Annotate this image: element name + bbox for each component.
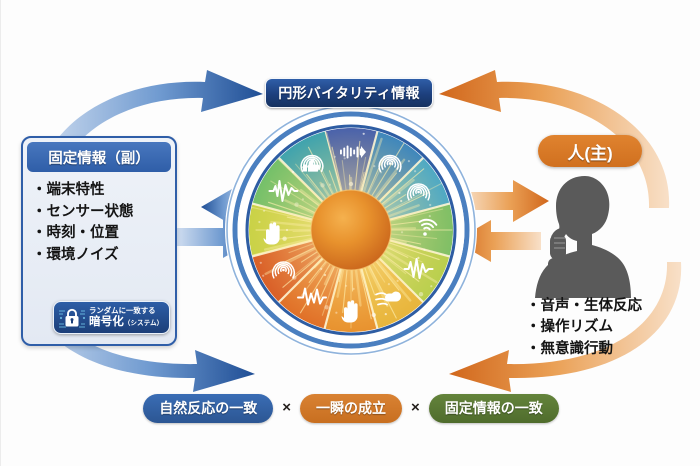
encryption-badge-title: 暗号化（システム） xyxy=(89,316,163,328)
fixed-info-panel-header: 固定情報（副） xyxy=(27,142,171,172)
top-banner: 円形バイタリティ情報 xyxy=(265,78,433,108)
condition-pill-fixed-info-match: 固定情報の一致 xyxy=(429,394,559,423)
encryption-badge-subtitle: ランダムに一致する xyxy=(89,307,163,314)
condition-pill-label: 固定情報の一致 xyxy=(445,398,543,418)
person-pill-label: 人(主) xyxy=(567,139,612,164)
list-item: ・無意識行動 xyxy=(526,339,696,360)
list-item: ・環境ノイズ xyxy=(32,245,169,266)
fixed-info-panel-title: 固定情報（副） xyxy=(48,147,150,168)
condition-pill-natural-reaction: 自然反応の一致 xyxy=(143,394,273,423)
multiply-icon: × xyxy=(411,400,420,416)
human-signals-list: ・音声・生体反応 ・操作リズム ・無意識行動 xyxy=(526,296,696,360)
person-pill: 人(主) xyxy=(538,135,642,167)
lock-icon xyxy=(57,305,87,331)
multiply-icon: × xyxy=(282,400,291,416)
diagram-canvas: 円形バイタリティ情報 固定情報（副） ・端末特性 ・センサー状態 ・時刻・位置 … xyxy=(1,0,700,466)
list-item: ・操作リズム xyxy=(526,317,696,338)
thumbs-up-icon xyxy=(301,156,323,172)
condition-pill-instant-match: 一瞬の成立 xyxy=(300,394,402,423)
list-item: ・端末特性 xyxy=(32,180,169,201)
wheel-graphic xyxy=(223,102,479,358)
list-item: ・音声・生体反応 xyxy=(526,296,696,317)
encryption-badge: ランダムに一致する 暗号化（システム） xyxy=(53,301,170,334)
vitality-wheel xyxy=(223,102,479,358)
top-banner-label: 円形バイタリティ情報 xyxy=(278,83,420,103)
list-item: ・センサー状態 xyxy=(32,202,169,223)
condition-pill-label: 一瞬の成立 xyxy=(316,398,386,418)
person-silhouette-icon xyxy=(523,170,643,298)
conditions-row: 自然反応の一致 × 一瞬の成立 × 固定情報の一致 xyxy=(1,392,700,424)
fixed-info-list: ・端末特性 ・センサー状態 ・時刻・位置 ・環境ノイズ xyxy=(32,180,169,265)
list-item: ・時刻・位置 xyxy=(32,223,169,244)
fixed-info-panel: 固定情報（副） ・端末特性 ・センサー状態 ・時刻・位置 ・環境ノイズ ランダ xyxy=(21,136,177,346)
condition-pill-label: 自然反応の一致 xyxy=(159,398,257,418)
